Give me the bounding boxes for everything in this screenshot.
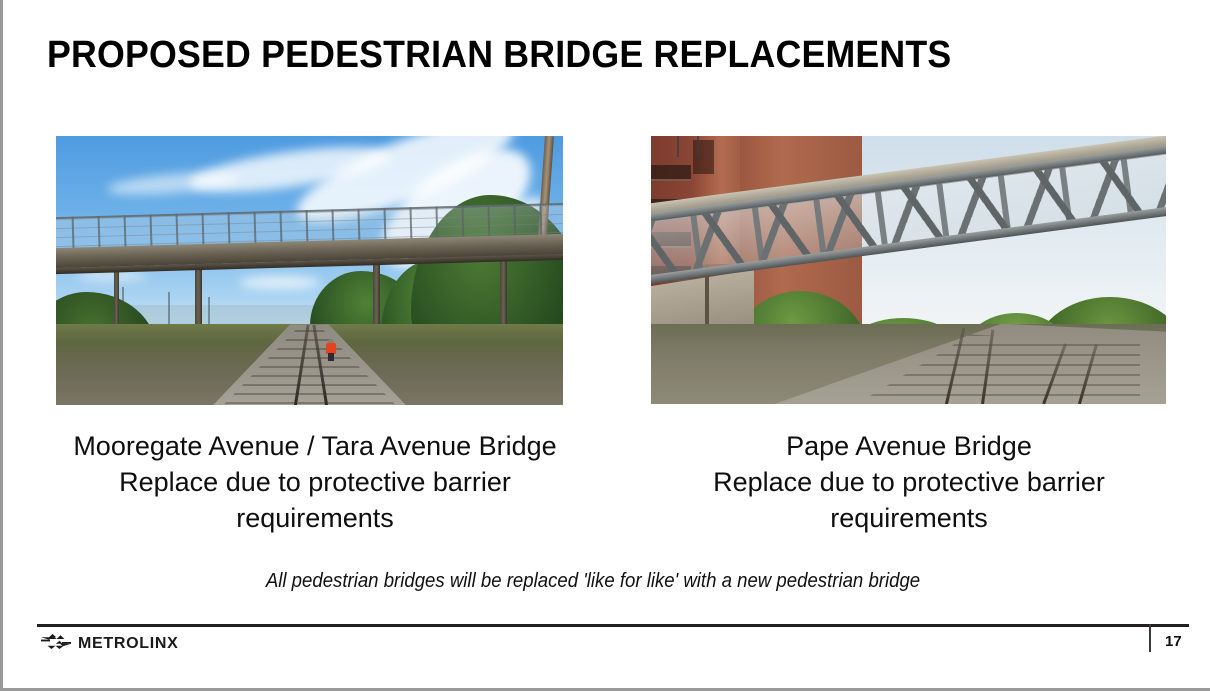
caption-left-line2: Replace due to protective barrier — [25, 464, 605, 500]
caption-right-line3: requirements — [633, 500, 1185, 536]
metrolinx-wordmark: METROLINX — [78, 635, 179, 653]
caption-left-line1: Mooregate Avenue / Tara Avenue Bridge — [25, 428, 605, 464]
footer-tick-divider — [1149, 624, 1151, 652]
caption-left-line3: requirements — [25, 500, 605, 536]
caption-right-line2: Replace due to protective barrier — [633, 464, 1185, 500]
page-title: PROPOSED PEDESTRIAN BRIDGE REPLACEMENTS — [47, 34, 951, 77]
caption-left: Mooregate Avenue / Tara Avenue Bridge Re… — [25, 428, 605, 537]
caption-right-line1: Pape Avenue Bridge — [633, 428, 1185, 464]
photo-mooregate-tara-bridge — [56, 136, 563, 405]
footer-divider — [37, 624, 1189, 627]
person-on-track — [326, 339, 336, 361]
photo-pape-avenue-bridge — [651, 136, 1166, 404]
person-legs — [328, 353, 334, 361]
rooftop-antenna — [677, 136, 679, 157]
slide: PROPOSED PEDESTRIAN BRIDGE REPLACEMENTS — [0, 0, 1210, 691]
metrolinx-wave-icon — [41, 634, 71, 654]
page-number: 17 — [1165, 633, 1182, 650]
balcony — [651, 165, 691, 181]
footnote: All pedestrian bridges will be replaced … — [44, 570, 1141, 593]
caption-right: Pape Avenue Bridge Replace due to protec… — [633, 428, 1185, 537]
rooftop-antenna — [697, 136, 699, 157]
metrolinx-logo: METROLINX — [41, 634, 179, 654]
